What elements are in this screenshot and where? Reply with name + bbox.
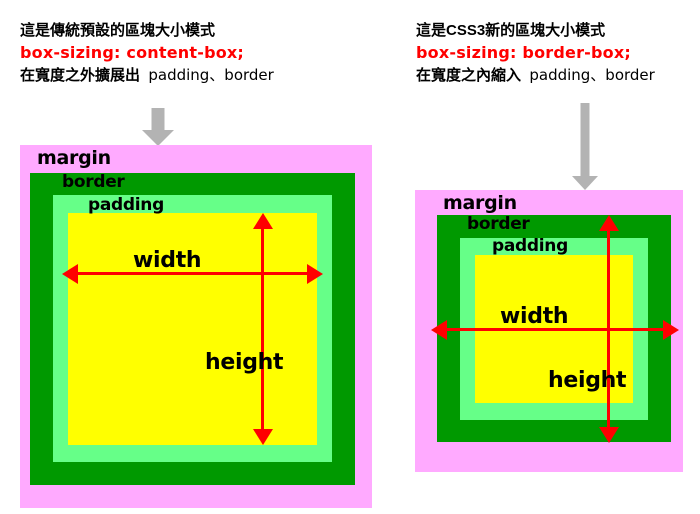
left-width-label: width (133, 248, 201, 273)
left-height-label: height (205, 350, 283, 375)
right-height-label: height (548, 368, 626, 393)
right-margin-label: margin (443, 192, 517, 214)
left-box-model-diagram: margin border padding width height (20, 145, 372, 508)
right-width-arrow-left-icon (431, 320, 447, 340)
right-width-label: width (500, 304, 568, 329)
right-flow-down-arrow-icon (567, 103, 603, 190)
left-caption-line3-cjk: 在寬度之外擴展出 (20, 67, 140, 84)
right-caption-code: box-sizing: border-box; (416, 42, 655, 64)
right-box-model-diagram: margin border padding width height (415, 190, 683, 472)
left-flow-down-arrow-icon (137, 108, 179, 146)
left-caption: 這是傳統預設的區塊大小模式 box-sizing: content-box; 在… (20, 20, 274, 87)
left-height-arrow-up-icon (253, 213, 273, 229)
right-caption: 這是CSS3新的區塊大小模式 box-sizing: border-box; 在… (416, 20, 655, 87)
right-caption-line1: 這是CSS3新的區塊大小模式 (416, 20, 655, 42)
left-width-arrow-left-icon (62, 264, 78, 284)
left-caption-line3-latin: padding、border (148, 66, 273, 84)
left-caption-line1: 這是傳統預設的區塊大小模式 (20, 20, 274, 42)
right-border-label: border (467, 214, 530, 234)
diagram-canvas: 這是傳統預設的區塊大小模式 box-sizing: content-box; 在… (0, 0, 700, 514)
right-height-arrow-down-icon (599, 427, 619, 443)
right-caption-line3-cjk: 在寬度之內縮入 (416, 67, 521, 84)
right-width-arrow-right-icon (663, 320, 679, 340)
left-border-label: border (62, 172, 125, 192)
right-caption-line3-latin: padding、border (529, 66, 654, 84)
left-width-arrow-right-icon (307, 264, 323, 284)
right-padding-label: padding (492, 236, 568, 256)
left-caption-code: box-sizing: content-box; (20, 42, 274, 64)
left-caption-line3: 在寬度之外擴展出 padding、border (20, 64, 274, 87)
right-caption-line3: 在寬度之內縮入 padding、border (416, 64, 655, 87)
left-margin-label: margin (37, 147, 111, 169)
right-height-line (607, 231, 610, 427)
left-padding-label: padding (88, 195, 164, 215)
left-height-arrow-down-icon (253, 429, 273, 445)
left-height-line (261, 229, 264, 429)
right-height-arrow-up-icon (599, 215, 619, 231)
